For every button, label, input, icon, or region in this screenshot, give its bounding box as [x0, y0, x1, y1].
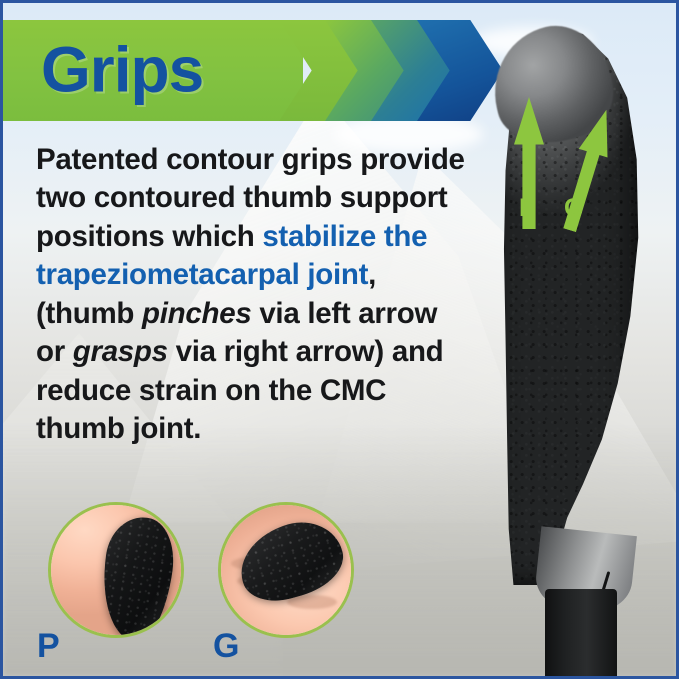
inset-label-p: P [37, 629, 60, 663]
inset-photo-grasp [218, 502, 354, 638]
inset-photo-pinch [48, 502, 184, 638]
copy-line-4-highlight: stabilize the [262, 220, 427, 253]
arrow-label-p: P [519, 196, 536, 221]
product-infographic: Grips Patented contour grips provide two… [0, 0, 679, 679]
arrow-label-g: G [564, 196, 583, 221]
copy-line-7-b: via right arrow) [168, 335, 384, 368]
copy-line-6-italic: pinches [142, 297, 251, 330]
cane-shaft [545, 589, 617, 679]
copy-line-5-plain: , [368, 258, 376, 291]
page-title: Grips [41, 37, 203, 101]
description-text: Patented contour grips provide two conto… [36, 141, 466, 449]
header-banner: Grips [3, 20, 455, 121]
copy-line-7-italic: grasps [73, 335, 168, 368]
copy-line-6-a: (thumb [36, 297, 142, 330]
cane-grip-illustration: P G [433, 11, 679, 679]
copy-line-5-highlight: trapeziometacarpal joint [36, 258, 368, 291]
copy-line-1: Patented contour grips [36, 143, 352, 176]
inset-label-g: G [213, 629, 239, 663]
copy-line-4-plain: which [172, 220, 262, 253]
copy-line-6-b: via left arrow [251, 297, 437, 330]
copy-line-7-a: or [36, 335, 73, 368]
